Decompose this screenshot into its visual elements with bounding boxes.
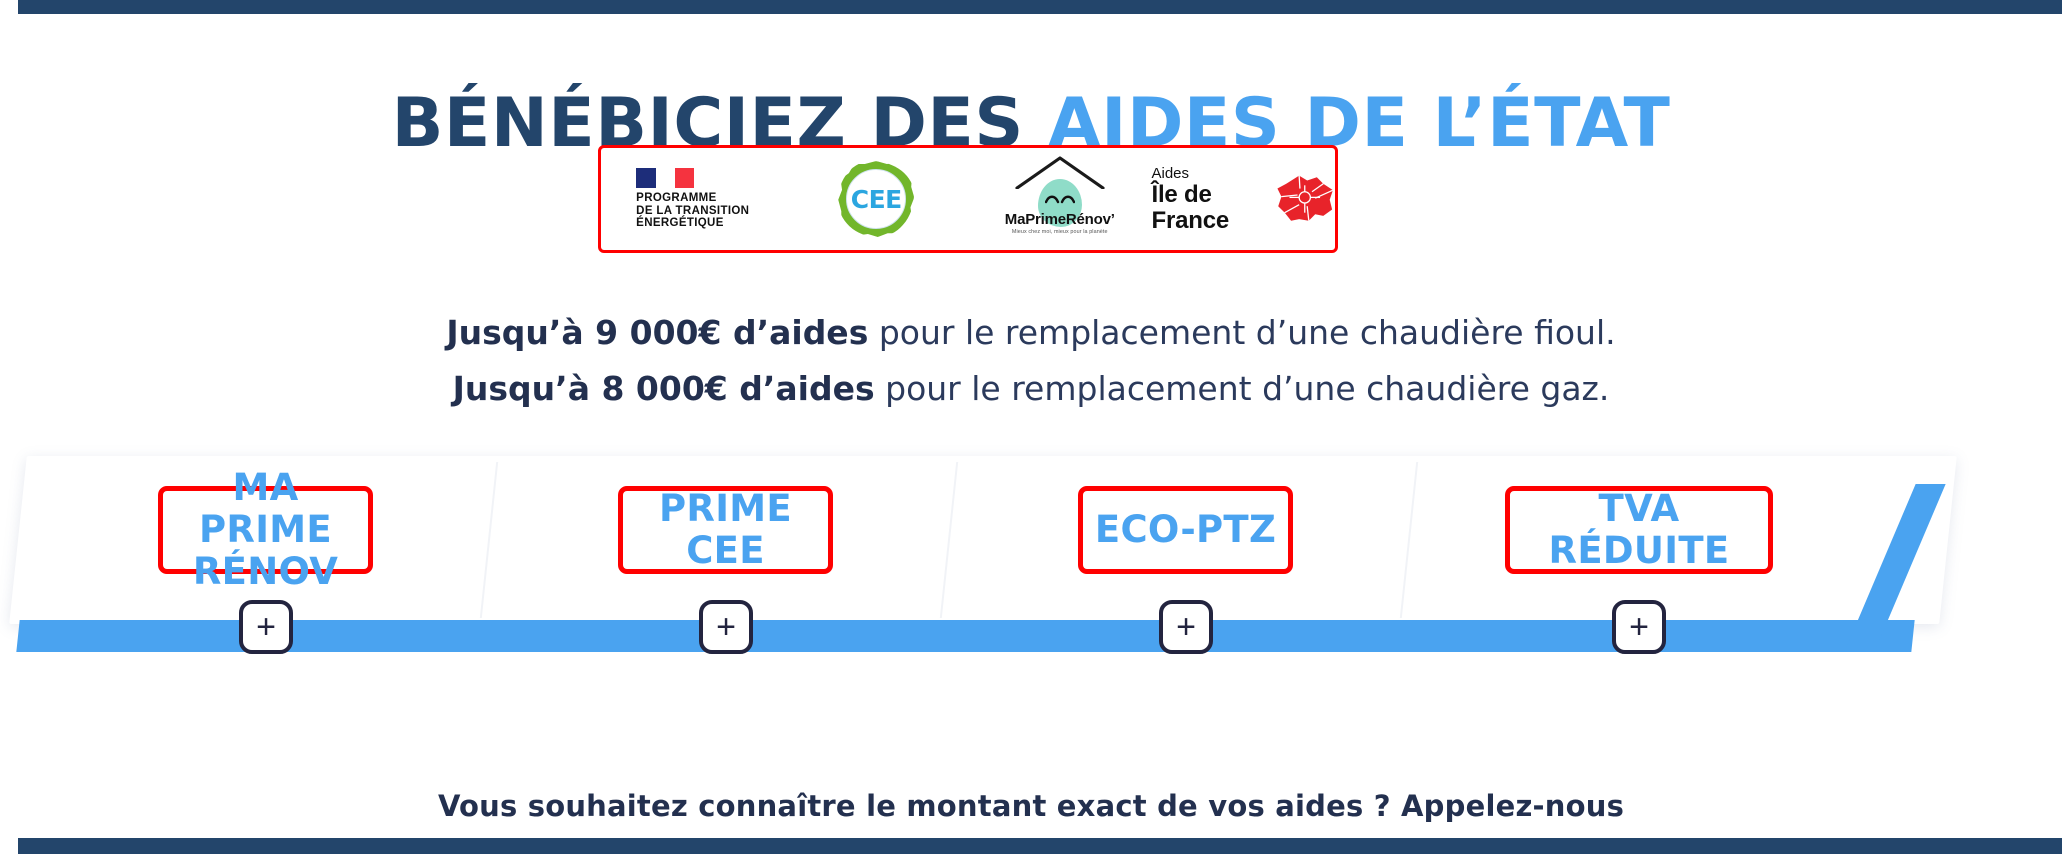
logo-cee: CEE bbox=[785, 148, 969, 250]
subtitle-line-2: Jusqu’à 8 000€ d’aides pour le remplacem… bbox=[0, 370, 2062, 408]
aid-card-prime-cee[interactable]: PRIME CEE bbox=[618, 486, 833, 574]
logo-maprimerenov: MaPrimeRénov’ Mieux chez moi, mieux pour… bbox=[968, 148, 1152, 250]
french-flag-icon bbox=[636, 168, 694, 188]
subtitle-2-amount: Jusqu’à 8 000€ d’aides bbox=[453, 369, 875, 408]
logo-aides-ile-de-france: Aides Île de France bbox=[1152, 148, 1336, 250]
expand-button-ma-prime-renov[interactable]: + bbox=[239, 600, 293, 654]
pte-line-2: DE LA TRANSITION bbox=[636, 205, 749, 218]
call-to-action-text: Vous souhaitez connaître le montant exac… bbox=[0, 789, 2062, 823]
aid-card-eco-ptz[interactable]: ECO-PTZ bbox=[1078, 486, 1293, 574]
partner-logos-strip: PROGRAMME DE LA TRANSITION ÉNERGÉTIQUE C… bbox=[598, 145, 1338, 253]
expand-button-eco-ptz[interactable]: + bbox=[1159, 600, 1213, 654]
subtitle-line-1: Jusqu’à 9 000€ d’aides pour le remplacem… bbox=[0, 314, 2062, 352]
bottom-accent-bar bbox=[18, 838, 2062, 854]
panel-separator-3 bbox=[1400, 462, 1418, 618]
pte-line-3: ÉNERGÉTIQUE bbox=[636, 217, 749, 230]
subtitle-2-rest: pour le remplacement d’une chaudière gaz… bbox=[875, 369, 1610, 408]
expand-button-tva-reduite[interactable]: + bbox=[1612, 600, 1666, 654]
subtitle-1-amount: Jusqu’à 9 000€ d’aides bbox=[446, 313, 868, 352]
expand-button-prime-cee[interactable]: + bbox=[699, 600, 753, 654]
maprimerenov-tagline: Mieux chez moi, mieux pour la planète bbox=[985, 229, 1135, 235]
cee-label: CEE bbox=[851, 185, 902, 214]
logo-programme-transition-energetique: PROGRAMME DE LA TRANSITION ÉNERGÉTIQUE bbox=[601, 148, 785, 250]
top-accent-bar bbox=[18, 0, 2062, 14]
maprimerenov-label: MaPrimeRénov’ bbox=[985, 211, 1135, 228]
idf-line-2: Île de France bbox=[1152, 182, 1268, 234]
aids-ribbon: MA PRIME RÉNOV PRIME CEE ECO-PTZ TVA RÉD… bbox=[0, 440, 2062, 680]
aid-card-ma-prime-renov[interactable]: MA PRIME RÉNOV bbox=[158, 486, 373, 574]
smiling-eyes-icon bbox=[1045, 193, 1075, 205]
ile-de-france-map-icon bbox=[1275, 168, 1335, 230]
panel-separator-2 bbox=[940, 462, 958, 618]
subtitle-1-rest: pour le remplacement d’une chaudière fio… bbox=[868, 313, 1615, 352]
panel-separator-1 bbox=[480, 462, 498, 618]
idf-line-1: Aides bbox=[1152, 165, 1268, 182]
aid-card-tva-reduite[interactable]: TVA RÉDUITE bbox=[1505, 486, 1773, 574]
pte-line-1: PROGRAMME bbox=[636, 192, 749, 205]
